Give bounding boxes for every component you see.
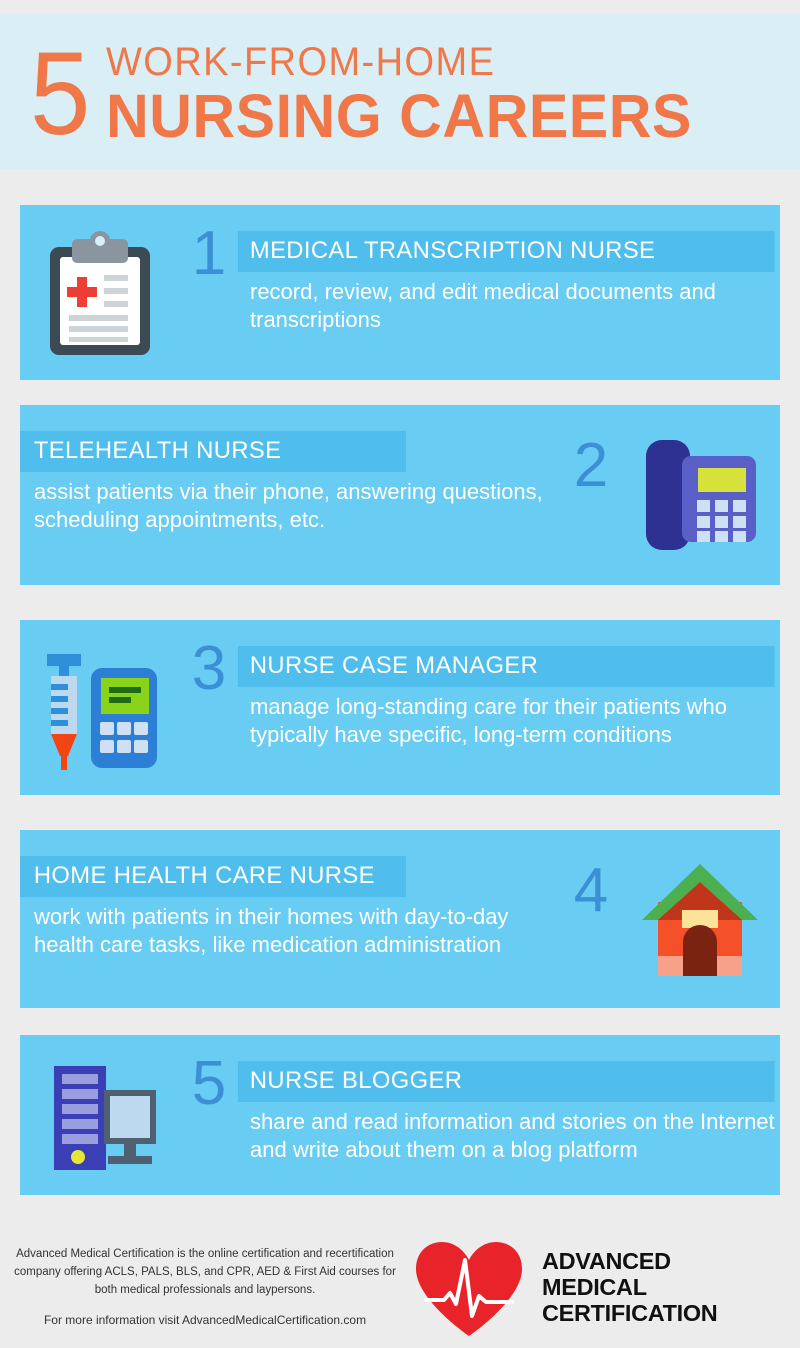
career-card-3[interactable]: 3 NURSE CASE MANAGER manage long-standin… [20,620,780,795]
header-title-stack: WORK-FROM-HOME NURSING CAREERS [106,42,710,148]
header-subtitle: WORK-FROM-HOME [106,42,680,82]
career-card-2[interactable]: TELEHEALTH NURSE assist patients via the… [20,405,780,585]
footer-paragraph-2[interactable]: For more information visit AdvancedMedic… [10,1311,400,1330]
footer: Advanced Medical Certification is the on… [0,1228,800,1348]
footer-paragraph-1: Advanced Medical Certification is the on… [10,1246,400,1299]
page-title: NURSING CAREERS [106,84,692,148]
career-title-1: MEDICAL TRANSCRIPTION NURSE [238,231,775,272]
career-card-4[interactable]: HOME HEALTH CARE NURSE work with patient… [20,830,780,1008]
career-title-5: NURSE BLOGGER [238,1061,775,1102]
career-description-4: work with patients in their homes with d… [20,897,562,959]
brand-line-1: ADVANCED [542,1249,717,1275]
footer-description: Advanced Medical Certification is the on… [0,1246,400,1330]
desk-phone-icon [620,405,780,585]
header-banner: 5 WORK-FROM-HOME NURSING CAREERS [0,14,800,169]
career-description-3: manage long-standing care for their pati… [238,687,780,749]
career-description-5: share and read information and stories o… [238,1102,780,1164]
career-title-3: NURSE CASE MANAGER [238,646,775,687]
heart-ekg-icon [410,1238,528,1338]
brand-line-2: MEDICAL [542,1275,717,1301]
brand-line-3: CERTIFICATION [542,1301,717,1327]
header-inner: 5 WORK-FROM-HOME NURSING CAREERS [0,34,710,149]
career-text-5: NURSE BLOGGER share and read information… [238,1035,780,1195]
brand-logo-text: ADVANCED MEDICAL CERTIFICATION [542,1249,717,1326]
career-text-1: MEDICAL TRANSCRIPTION NURSE record, revi… [238,205,780,380]
house-icon [620,830,780,1008]
career-number-2: 2 [562,405,620,585]
career-number-5: 5 [180,1035,238,1195]
career-card-1[interactable]: 1 MEDICAL TRANSCRIPTION NURSE record, re… [20,205,780,380]
career-text-4: HOME HEALTH CARE NURSE work with patient… [20,830,562,1008]
syringe-glucometer-icon [20,620,180,795]
career-card-5[interactable]: 5 NURSE BLOGGER share and read informati… [20,1035,780,1195]
career-title-2: TELEHEALTH NURSE [20,431,406,472]
career-text-3: NURSE CASE MANAGER manage long-standing … [238,620,780,795]
desktop-computer-icon [20,1035,180,1195]
career-description-1: record, review, and edit medical documen… [238,272,780,334]
clipboard-medical-icon [20,205,180,380]
career-text-2: TELEHEALTH NURSE assist patients via the… [20,405,562,585]
header-number: 5 [30,40,87,149]
brand-logo[interactable]: ADVANCED MEDICAL CERTIFICATION [410,1238,714,1338]
career-number-3: 3 [180,620,238,795]
career-number-1: 1 [180,205,238,380]
infographic-page: 5 WORK-FROM-HOME NURSING CAREERS [0,0,800,1348]
career-number-4: 4 [562,830,620,1008]
career-description-2: assist patients via their phone, answeri… [20,472,562,534]
career-title-4: HOME HEALTH CARE NURSE [20,856,406,897]
